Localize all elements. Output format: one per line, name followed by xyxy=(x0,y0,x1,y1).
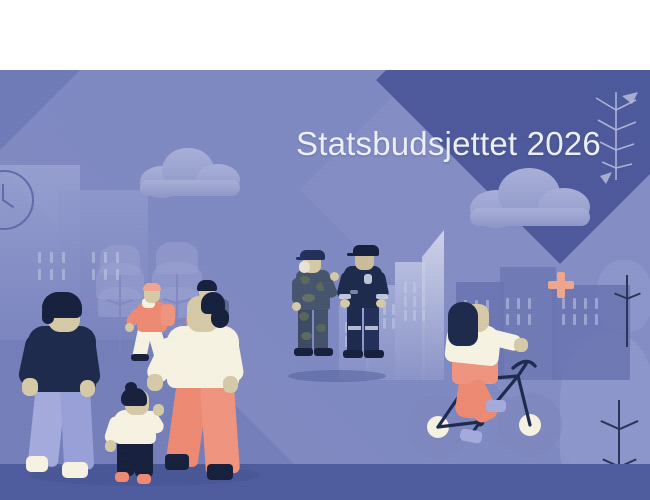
banner-stage: Statsbudsjettet 2026 xyxy=(0,0,650,500)
top-white-band xyxy=(0,0,650,70)
figure-adult-right xyxy=(155,292,259,484)
figure-police xyxy=(340,244,388,362)
figure-soldier xyxy=(292,248,338,360)
tree-icon-right-small xyxy=(612,275,642,347)
page-title: Statsbudsjettet 2026 xyxy=(296,125,601,163)
window-grid-left-b xyxy=(92,252,119,280)
window-grid-left-a xyxy=(38,252,65,280)
figure-adult-left xyxy=(18,292,114,480)
shadow-uniformed-pair xyxy=(288,370,386,382)
medical-cross-icon xyxy=(548,272,574,298)
cloud-icon-left xyxy=(140,148,240,196)
figure-cyclist xyxy=(408,302,568,474)
cloud-icon-right xyxy=(470,168,590,226)
